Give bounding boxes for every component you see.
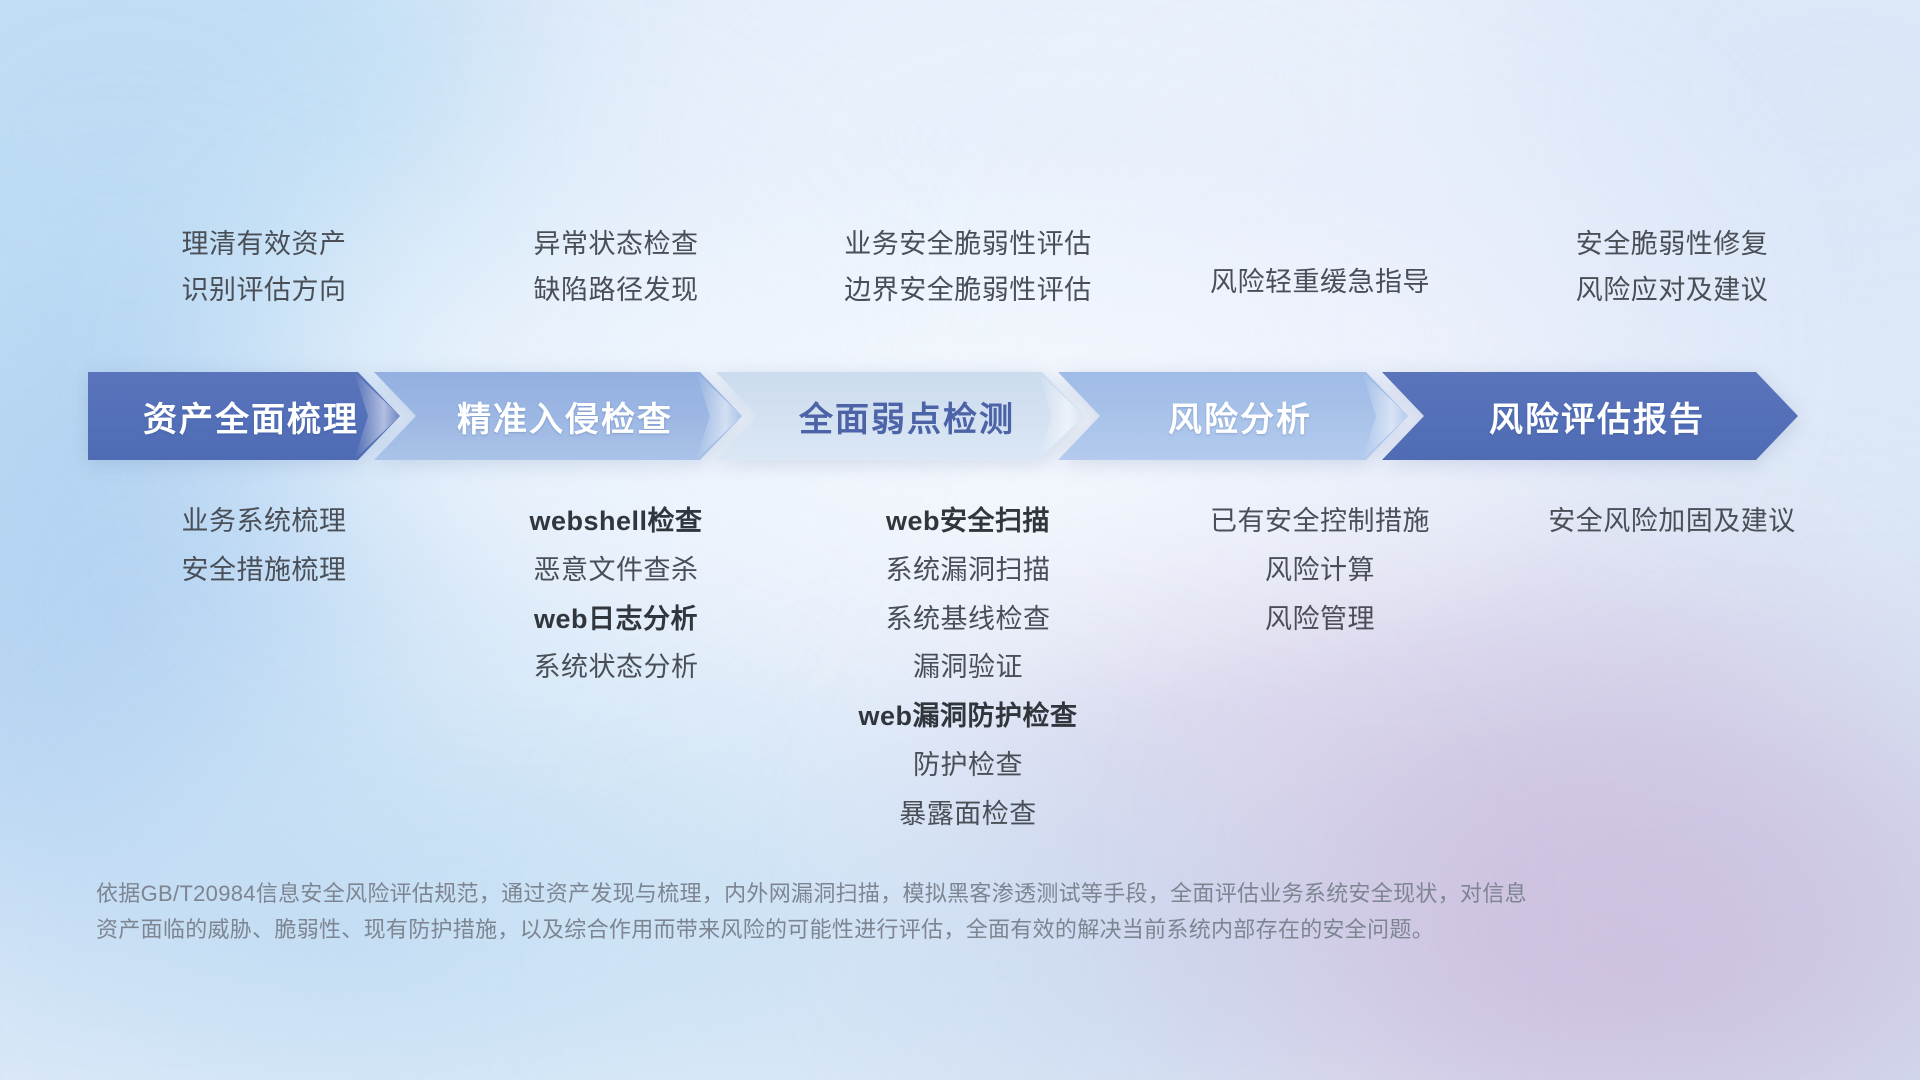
stage-chevron-3[interactable]: 全面弱点检测 (716, 372, 1084, 460)
stage-chevron-1[interactable]: 资产全面梳理 (88, 372, 400, 460)
bottom-label: 暴露面检查 (899, 798, 1037, 832)
bottom-label: 业务系统梳理 (182, 505, 347, 539)
top-labels-stage-2: 异常状态检查 缺陷路径发现 (440, 228, 792, 338)
bottom-labels-stage-2: webshell检查 恶意文件查杀 web日志分析 系统状态分析 (440, 505, 792, 685)
top-label: 理清有效资产 (182, 228, 347, 262)
stage-title-1: 资产全面梳理 (129, 392, 359, 441)
bottom-label: web漏洞防护检查 (858, 700, 1077, 734)
bottom-labels-stage-1: 业务系统梳理 安全措施梳理 (88, 505, 440, 588)
bottom-label: 系统漏洞扫描 (886, 554, 1051, 588)
top-label: 边界安全脆弱性评估 (844, 274, 1092, 308)
stage-title-5: 风险评估报告 (1475, 392, 1705, 441)
stage-title-2: 精准入侵检查 (443, 392, 673, 441)
footer-line-1: 依据GB/T20984信息安全风险评估规范，通过资产发现与梳理，内外网漏洞扫描，… (96, 876, 1756, 912)
bottom-label: 风险计算 (1265, 554, 1375, 588)
top-label: 识别评估方向 (182, 274, 347, 308)
stage-chevron-2[interactable]: 精准入侵检查 (374, 372, 742, 460)
stage-title-4: 风险分析 (1154, 392, 1312, 441)
stage-chevron-5[interactable]: 风险评估报告 (1382, 372, 1798, 460)
bottom-label: 系统基线检查 (886, 603, 1051, 637)
stage-chevron-4[interactable]: 风险分析 (1058, 372, 1408, 460)
bottom-labels-stage-5: 安全风险加固及建议 (1496, 505, 1848, 539)
stage-title-3: 全面弱点检测 (785, 392, 1015, 441)
bottom-label: web日志分析 (534, 603, 698, 637)
top-label: 风险应对及建议 (1576, 274, 1769, 308)
top-label: 安全脆弱性修复 (1576, 228, 1769, 262)
bottom-label: 安全风险加固及建议 (1548, 505, 1796, 539)
bottom-label: 漏洞验证 (913, 651, 1023, 685)
top-label: 异常状态检查 (534, 228, 699, 262)
bottom-label: web安全扫描 (886, 505, 1050, 539)
bottom-label: 已有安全控制措施 (1210, 505, 1430, 539)
top-labels-stage-1: 理清有效资产 识别评估方向 (88, 228, 440, 338)
top-label: 风险轻重缓急指导 (1210, 266, 1430, 300)
footer-line-2: 资产面临的威胁、脆弱性、现有防护措施，以及综合作用而带来风险的可能性进行评估，全… (96, 912, 1756, 948)
top-labels-stage-5: 安全脆弱性修复 风险应对及建议 (1496, 228, 1848, 338)
process-chevron-band: 资产全面梳理 精准入侵检查 全面弱点检测 风险分析 风险评估报告 (88, 372, 1848, 460)
bottom-label: 安全措施梳理 (182, 554, 347, 588)
top-label: 业务安全脆弱性评估 (844, 228, 1092, 262)
bottom-label: webshell检查 (529, 505, 702, 539)
bottom-label: 恶意文件查杀 (534, 554, 699, 588)
bottom-labels-stage-4: 已有安全控制措施 风险计算 风险管理 (1144, 505, 1496, 636)
top-label-row: 理清有效资产 识别评估方向 异常状态检查 缺陷路径发现 业务安全脆弱性评估 边界… (88, 228, 1848, 338)
bottom-label: 防护检查 (913, 749, 1023, 783)
footer-description: 依据GB/T20984信息安全风险评估规范，通过资产发现与梳理，内外网漏洞扫描，… (96, 876, 1756, 949)
bottom-labels-stage-3: web安全扫描 系统漏洞扫描 系统基线检查 漏洞验证 web漏洞防护检查 防护检… (792, 505, 1144, 831)
bottom-label: 系统状态分析 (534, 651, 699, 685)
slide-canvas: 理清有效资产 识别评估方向 异常状态检查 缺陷路径发现 业务安全脆弱性评估 边界… (0, 0, 1920, 1080)
top-labels-stage-4: 风险轻重缓急指导 (1144, 228, 1496, 338)
process-diagram: 理清有效资产 识别评估方向 异常状态检查 缺陷路径发现 业务安全脆弱性评估 边界… (0, 0, 1920, 1080)
top-labels-stage-3: 业务安全脆弱性评估 边界安全脆弱性评估 (792, 228, 1144, 338)
bottom-label-row: 业务系统梳理 安全措施梳理 webshell检查 恶意文件查杀 web日志分析 … (88, 505, 1848, 831)
bottom-label: 风险管理 (1265, 603, 1375, 637)
top-label: 缺陷路径发现 (534, 274, 699, 308)
